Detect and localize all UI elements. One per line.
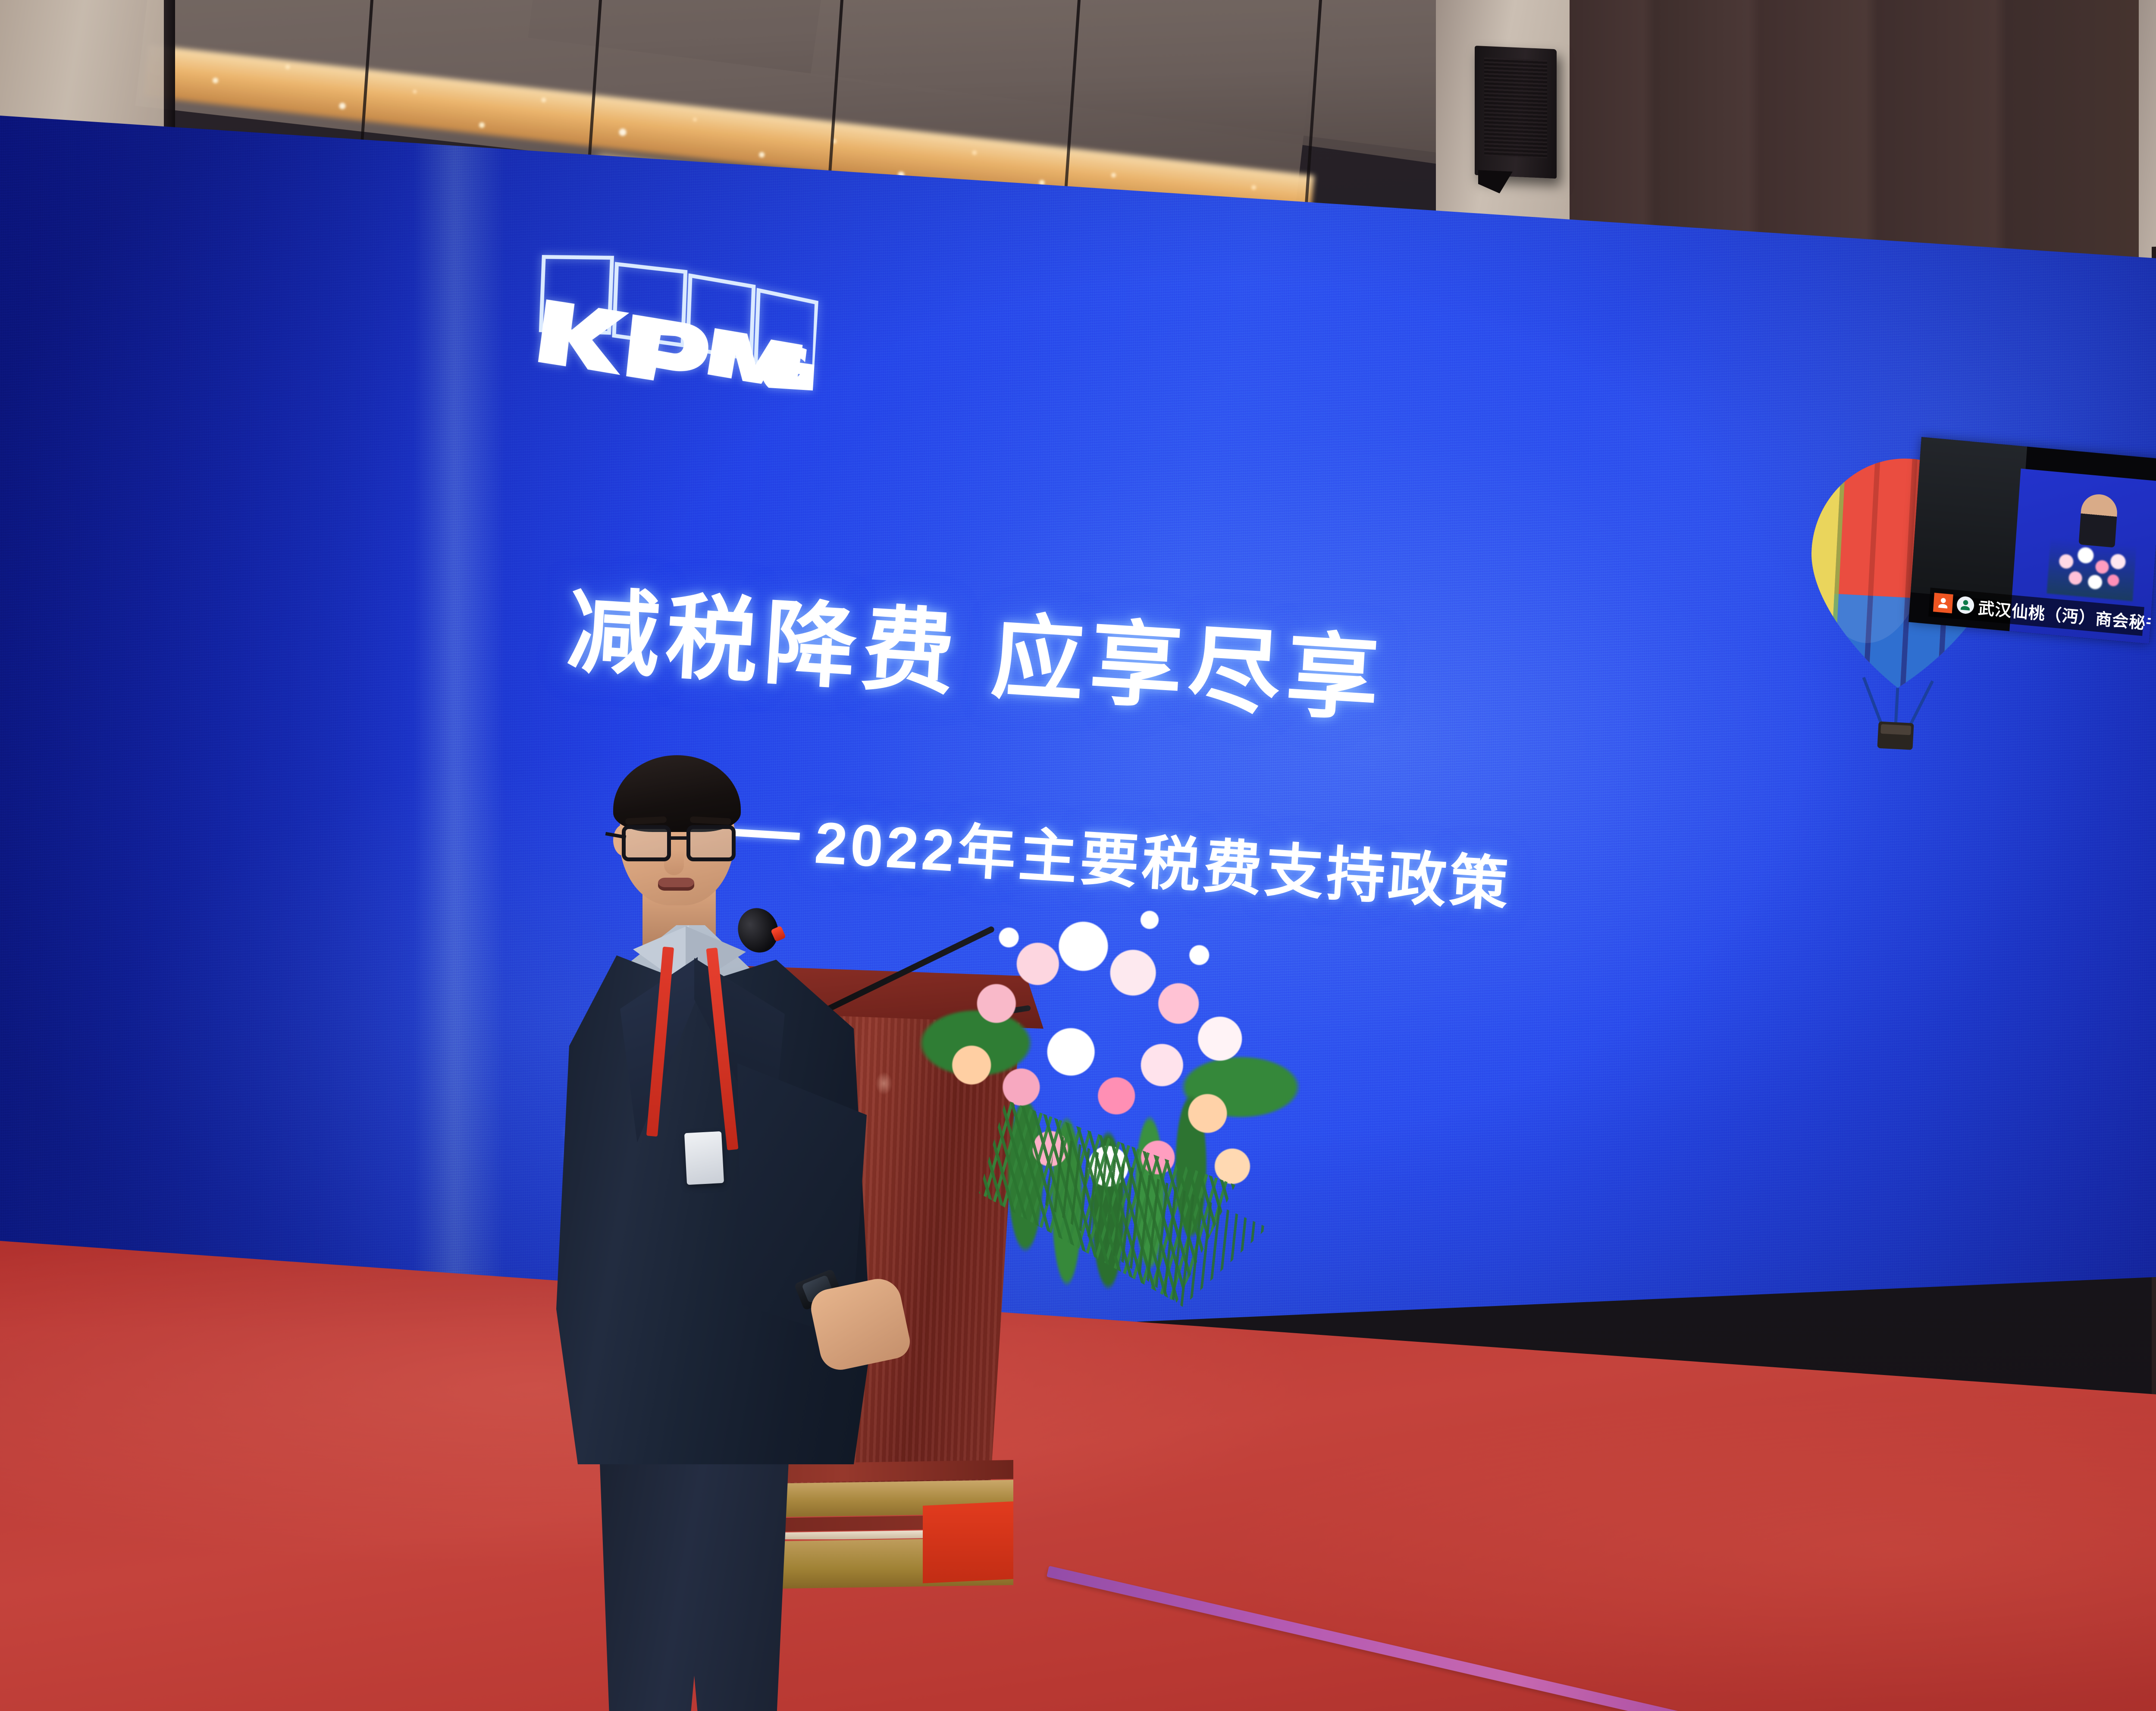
pip-person xyxy=(2078,493,2118,547)
glasses-icon xyxy=(622,825,739,863)
pip-flowers xyxy=(2047,538,2137,602)
presenter xyxy=(556,753,884,1615)
floral-arrangement xyxy=(901,858,1315,1298)
presenter-mouth xyxy=(658,878,694,891)
pip-left-pane xyxy=(1911,437,2028,602)
pip-video-overlay: 武汉仙桃（沔）商会秘书处 xyxy=(1908,437,2156,644)
glasses-lens xyxy=(622,825,671,861)
presenter-badge xyxy=(684,1131,724,1185)
wall-speaker xyxy=(1475,46,1557,179)
speaker-grille xyxy=(1484,57,1547,158)
kpmg-logo xyxy=(529,244,821,391)
podium-base-red-accent xyxy=(923,1501,1013,1583)
presenter-trousers xyxy=(586,1451,802,1711)
glasses-bridge xyxy=(669,836,689,840)
glasses-lens xyxy=(686,825,736,861)
conference-stage-scene: 减税降费 应享尽享 2022年主要税费支持政策 分公司 xyxy=(0,0,2156,1711)
user-icon xyxy=(1933,593,1953,614)
person-avatar-icon xyxy=(1956,596,1975,615)
